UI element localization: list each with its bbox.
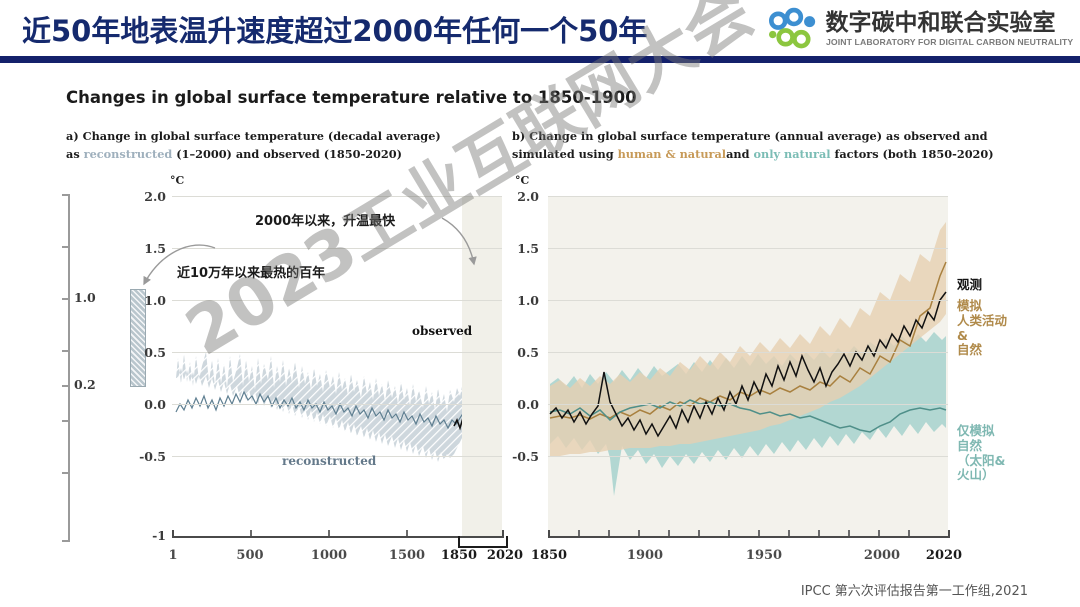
panel-a-caption-pre: as	[66, 147, 80, 161]
panel-b-ytick: 1.5	[483, 241, 539, 256]
panel-b-xtickmark	[848, 530, 850, 536]
panel-a-caption: a) Change in global surface temperature …	[66, 128, 486, 163]
page-header: 近50年地表温升速度超过2000年任何一个50年 数字碳中和联合实验室 JOIN…	[0, 0, 1080, 56]
panel-b-caption-post: factors (both 1850-2020)	[835, 147, 994, 161]
panel-b-xtickmark	[788, 530, 790, 536]
gridline	[548, 300, 948, 301]
panel-b-ytick: -0.5	[483, 449, 539, 464]
brand-text: 数字碳中和联合实验室 JOINT LABORATORY FOR DIGITAL …	[826, 11, 1068, 47]
legend-natural-only: 仅模拟 自然 （太阳& 火山）	[957, 424, 1005, 483]
panel-a-chart: °C 1.0 0.2 2.0 1.5 1.0 0.5 0.0 -0.5 -1	[60, 166, 510, 606]
panel-b-x-axis-cap-left	[548, 530, 550, 538]
panel-b-xtickmark	[878, 530, 880, 536]
panel-b-x-axis	[548, 536, 950, 538]
header-divider-inner	[0, 63, 1080, 65]
brand-lockup: 数字碳中和联合实验室 JOINT LABORATORY FOR DIGITAL …	[769, 6, 1068, 52]
panel-b-series-svg	[548, 196, 948, 536]
panel-b-xtick: 2000	[855, 548, 909, 563]
panel-b-caption-human: human & natural	[618, 147, 727, 161]
arrow-to-modern	[442, 218, 474, 264]
panel-b-xtickmark	[638, 530, 640, 536]
legend-human-natural-text: 模拟 人类活动& 自然	[957, 298, 1007, 357]
panel-b-xtick: 2020	[917, 548, 971, 563]
gridline	[548, 196, 948, 197]
panel-b-plot-area	[548, 196, 948, 536]
panel-b-xtick: 1900	[618, 548, 672, 563]
panel-b-ytick: 0.5	[483, 345, 539, 360]
panel-b-ytick: 1.0	[483, 293, 539, 308]
panel-b-xtickmark	[698, 530, 700, 536]
gridline	[548, 456, 948, 457]
panel-b-caption-pre: simulated using	[512, 147, 614, 161]
panel-b-chart: °C 2.0 1.5 1.0 0.5 0.0 -0.5	[505, 166, 1010, 606]
panel-a-caption-line1: a) Change in global surface temperature …	[66, 129, 441, 143]
panel-b-caption-line1: b) Change in global surface temperature …	[512, 129, 988, 143]
brand-name-en: JOINT LABORATORY FOR DIGITAL CARBON NEUT…	[826, 37, 1073, 47]
header-divider	[0, 56, 1080, 63]
panel-b-caption-natural: only natural	[753, 147, 830, 161]
panel-b-ytick: 2.0	[483, 189, 539, 204]
page-title: 近50年地表温升速度超过2000年任何一个50年	[22, 8, 647, 50]
panel-b-xtickmark	[578, 530, 580, 536]
arrow-to-band	[144, 245, 215, 284]
legend-natural-only-text: 仅模拟 自然 （太阳& 火山）	[957, 423, 1005, 482]
gridline	[548, 352, 948, 353]
molecule-logo-icon	[769, 8, 817, 50]
panel-b-xtickmark	[908, 530, 910, 536]
panel-b-xtickmark	[608, 530, 610, 536]
panel-b-unit-label: °C	[515, 174, 529, 187]
panel-b-x-axis-cap-right	[948, 530, 950, 538]
figure-source: IPCC 第六次评估报告第一工作组,2021	[801, 580, 1028, 599]
panel-a-caption-mid: (1–2000) and observed (1850-2020)	[176, 147, 402, 161]
panel-b-ytick: 0.0	[483, 397, 539, 412]
legend-human-natural: 模拟 人类活动& 自然	[957, 299, 1010, 358]
gridline	[548, 248, 948, 249]
panel-b-xtickmark	[818, 530, 820, 536]
panel-a-label-reconstructed: reconstructed	[282, 454, 376, 468]
panel-b-xtickmark	[728, 530, 730, 536]
panel-b-caption-and: and	[726, 147, 749, 161]
panel-b-xtickmark	[668, 530, 670, 536]
legend-observed: 观测	[957, 278, 982, 293]
panel-a-annotation-arrows	[60, 166, 510, 566]
figure-container: Changes in global surface temperature re…	[0, 66, 1080, 607]
panel-b-xtick: 1850	[522, 548, 576, 563]
figure-title: Changes in global surface temperature re…	[66, 88, 637, 107]
panel-b-caption: b) Change in global surface temperature …	[512, 128, 1012, 163]
panel-b-xtick: 1950	[737, 548, 791, 563]
gridline	[548, 404, 948, 405]
panel-a-caption-reconstructed: reconstructed	[84, 147, 173, 161]
panel-a-label-observed: observed	[412, 324, 472, 338]
brand-name-cn: 数字碳中和联合实验室	[826, 11, 1068, 35]
panel-b-xtickmark	[758, 530, 760, 536]
